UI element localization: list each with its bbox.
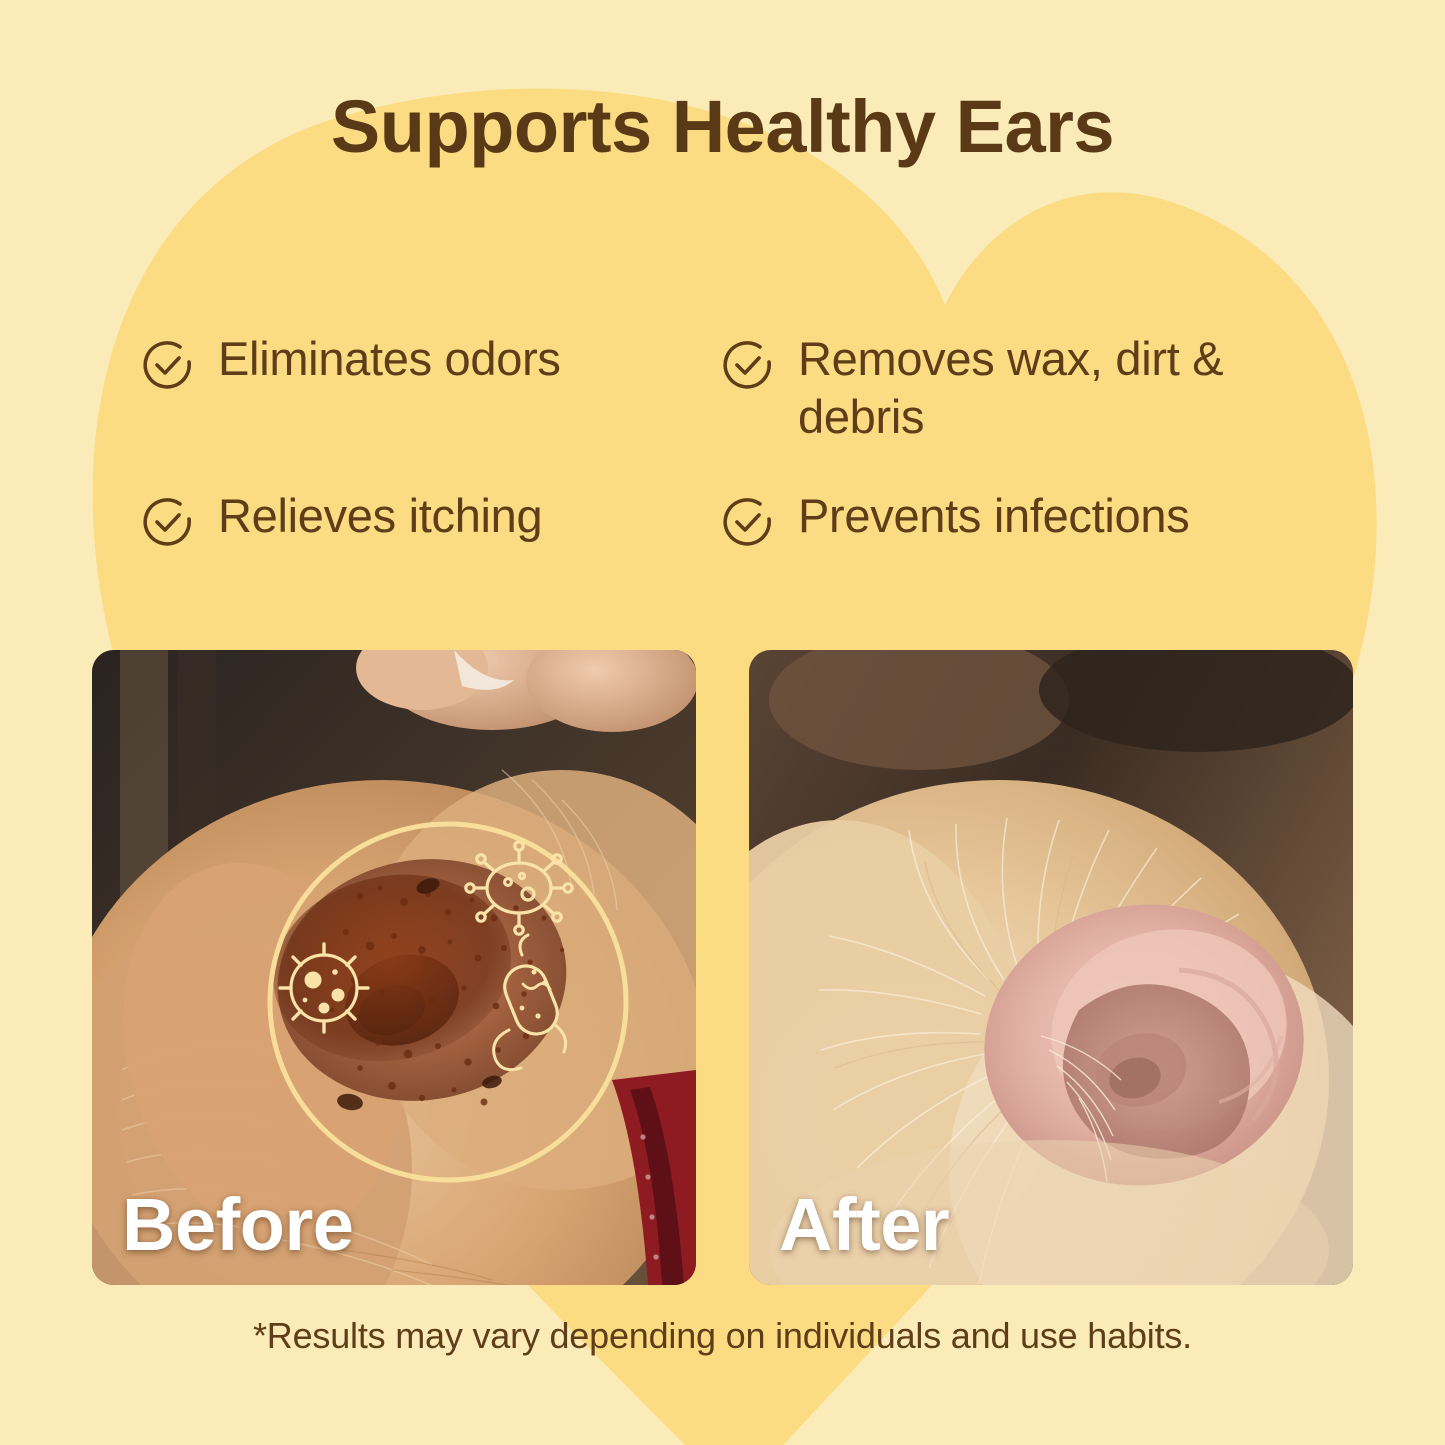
benefit-item-removes-wax-dirt-debris: Removes wax, dirt & debris (720, 330, 1320, 447)
circle-check-icon (720, 338, 776, 394)
before-after-comparison: Before (92, 650, 1354, 1285)
benefit-label: Relieves itching (218, 487, 542, 545)
after-panel: After (749, 650, 1353, 1285)
benefit-item-prevents-infections: Prevents infections (720, 487, 1320, 551)
benefits-list: Eliminates odors Removes wax, dirt & deb… (140, 330, 1320, 551)
results-disclaimer: *Results may vary depending on individua… (0, 1315, 1445, 1357)
before-caption: Before (122, 1182, 353, 1267)
circle-check-icon (140, 338, 196, 394)
benefit-item-relieves-itching: Relieves itching (140, 487, 720, 551)
circle-check-icon (720, 495, 776, 551)
circle-check-icon (140, 495, 196, 551)
infographic-page: Supports Healthy Ears Eliminates odors R… (0, 0, 1445, 1445)
before-panel: Before (92, 650, 696, 1285)
page-title: Supports Healthy Ears (0, 84, 1445, 169)
benefit-label: Removes wax, dirt & debris (798, 330, 1318, 447)
benefit-item-eliminates-odors: Eliminates odors (140, 330, 720, 447)
after-caption: After (779, 1182, 949, 1267)
benefit-label: Prevents infections (798, 487, 1189, 545)
benefit-label: Eliminates odors (218, 330, 561, 388)
